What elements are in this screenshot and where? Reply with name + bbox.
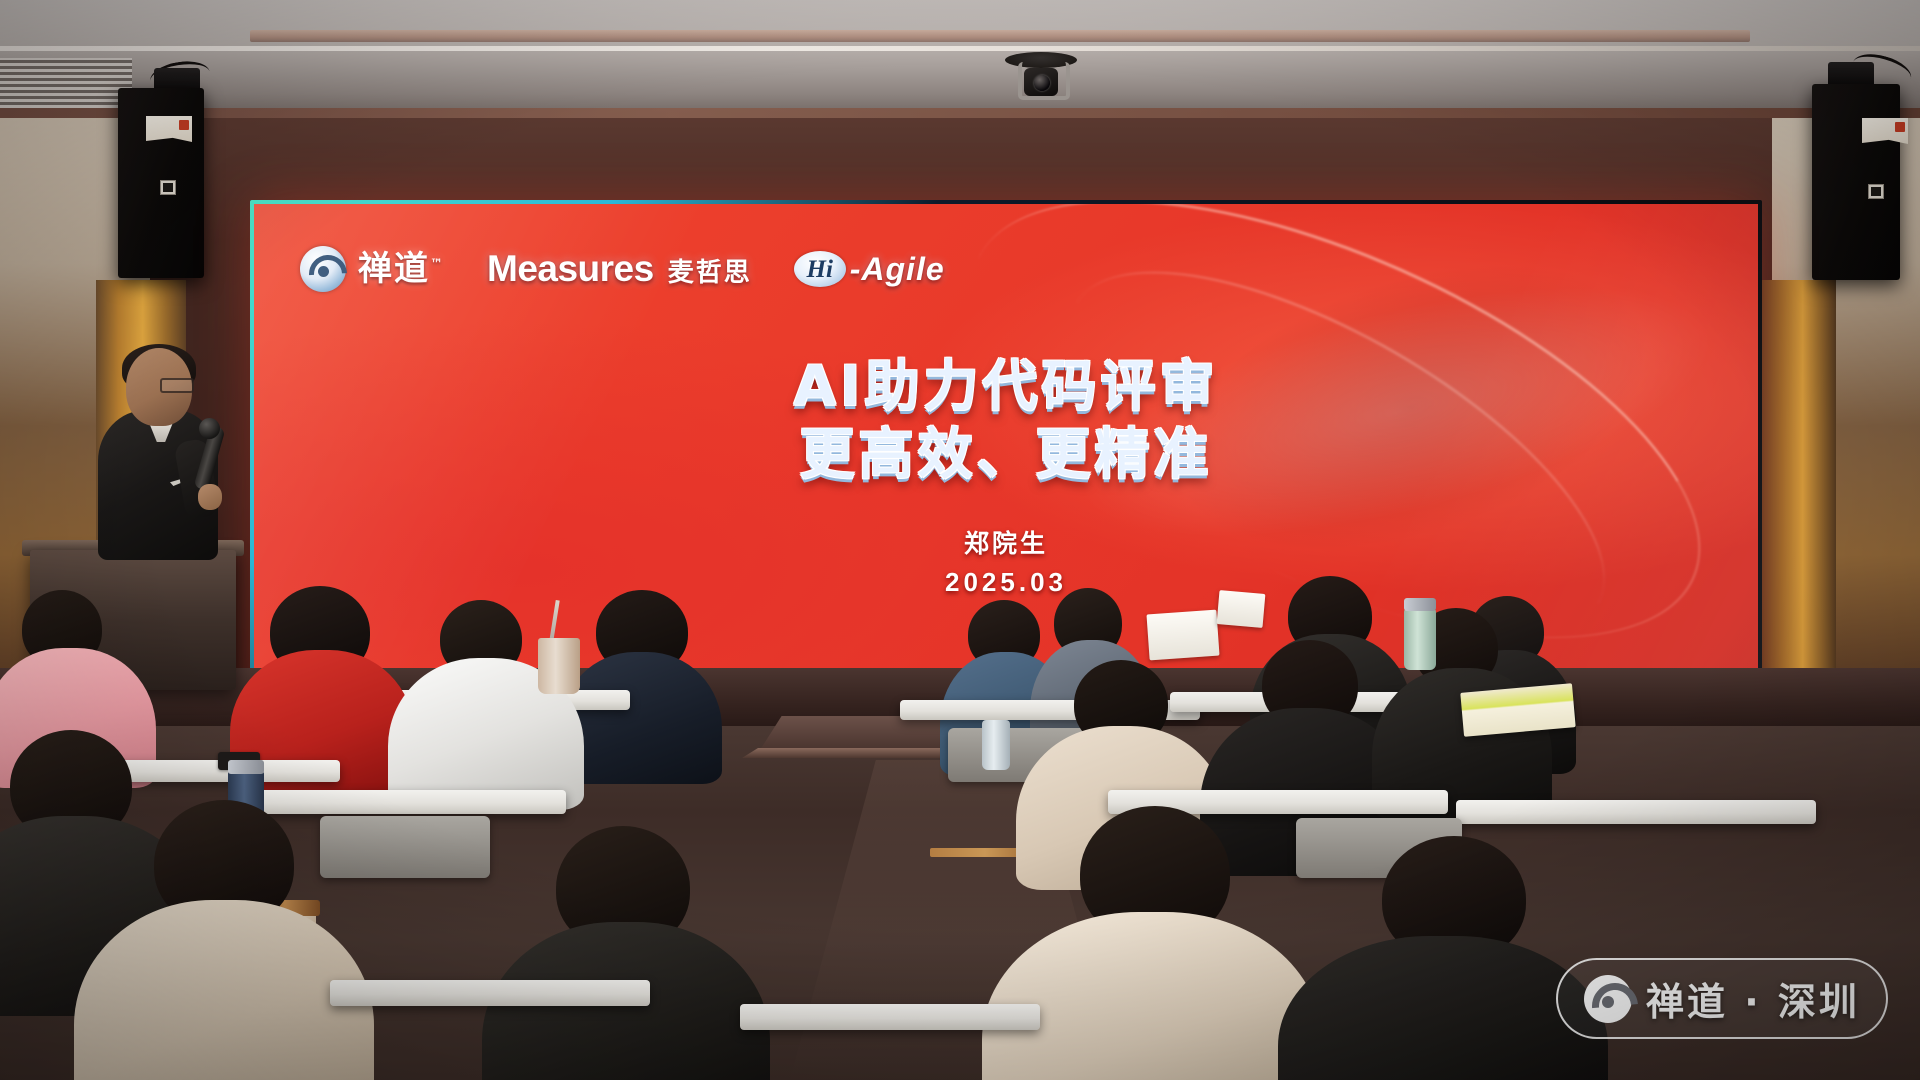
logo-measures-en: Measures — [487, 248, 654, 290]
logo-measures: Measures 麦哲思 — [487, 248, 752, 290]
wall-trim — [0, 108, 1920, 118]
logo-zentao-trademark: ™ — [430, 257, 445, 272]
logo-hi-agile-label: -Agile — [850, 251, 945, 288]
attendee-navy-sweater — [560, 652, 722, 784]
slide-presenter-block: 郑院生 2025.03 — [254, 524, 1758, 598]
desk — [740, 1004, 1040, 1030]
microphone-head — [199, 418, 220, 439]
watermark-label: 禅道 · 深圳 — [1646, 971, 1860, 1026]
ceiling-seam — [0, 46, 1920, 51]
desk — [330, 980, 650, 1006]
ceiling-air-vent — [0, 58, 132, 114]
list-item — [1000, 806, 1300, 1080]
slide-title-line-1: AI助力代码评审 — [254, 352, 1758, 420]
speaker-badge-right — [1868, 184, 1884, 199]
presenter-glasses-icon — [160, 378, 194, 393]
zentao-swirl-icon — [1584, 975, 1632, 1023]
slide-date: 2025.03 — [254, 567, 1758, 598]
list-item — [96, 800, 356, 1080]
wood-pillar-right — [1762, 280, 1836, 680]
logo-zentao-label: 禅道™ — [358, 252, 445, 286]
logo-zentao: 禅道™ — [300, 246, 445, 292]
speaker-label-left — [146, 116, 192, 142]
list-item — [400, 600, 570, 790]
water-bottle — [982, 720, 1010, 770]
watermark: 禅道 · 深圳 — [1556, 958, 1888, 1039]
papers — [1217, 590, 1266, 628]
slide-presenter-name: 郑院生 — [254, 524, 1758, 560]
water-bottle-cap — [228, 760, 264, 774]
logo-hi-agile: Hi -Agile — [794, 251, 945, 288]
speaker-badge-left — [160, 180, 176, 195]
hi-agile-badge-text: Hi — [807, 257, 833, 282]
presenter-hand — [198, 484, 222, 510]
attendee-beige-hoodie — [982, 912, 1322, 1080]
list-item — [560, 590, 720, 770]
ceiling-camera-lens — [1034, 75, 1050, 91]
list-item — [240, 586, 400, 770]
water-bottle — [1404, 608, 1436, 670]
ceiling-trim-strip — [250, 30, 1750, 42]
water-bottle-cap — [1404, 598, 1436, 611]
logo-measures-cn: 麦哲思 — [668, 252, 752, 289]
list-item — [500, 826, 750, 1080]
slide-logo-row: 禅道™ Measures 麦哲思 Hi -Agile — [300, 246, 945, 292]
desk — [1456, 800, 1816, 824]
attendee-beige-hoodie — [74, 900, 374, 1080]
papers — [1146, 610, 1219, 661]
zentao-swirl-icon — [300, 246, 346, 292]
conference-photo: 禅道™ Measures 麦哲思 Hi -Agile AI助力代码评审 更高效、… — [0, 0, 1920, 1080]
wall-speaker-right — [1812, 84, 1900, 280]
list-item — [1290, 836, 1590, 1080]
speaker-label-right — [1862, 118, 1908, 144]
ceiling — [0, 0, 1920, 120]
iced-drink-cup — [538, 638, 580, 694]
presenter-with-microphone — [98, 348, 218, 558]
hi-agile-badge-icon: Hi — [794, 251, 846, 287]
logo-zentao-text: 禅道 — [358, 249, 430, 289]
slide-title-line-2: 更高效、更精准 — [254, 420, 1758, 488]
slide-title: AI助力代码评审 更高效、更精准 — [254, 352, 1758, 488]
